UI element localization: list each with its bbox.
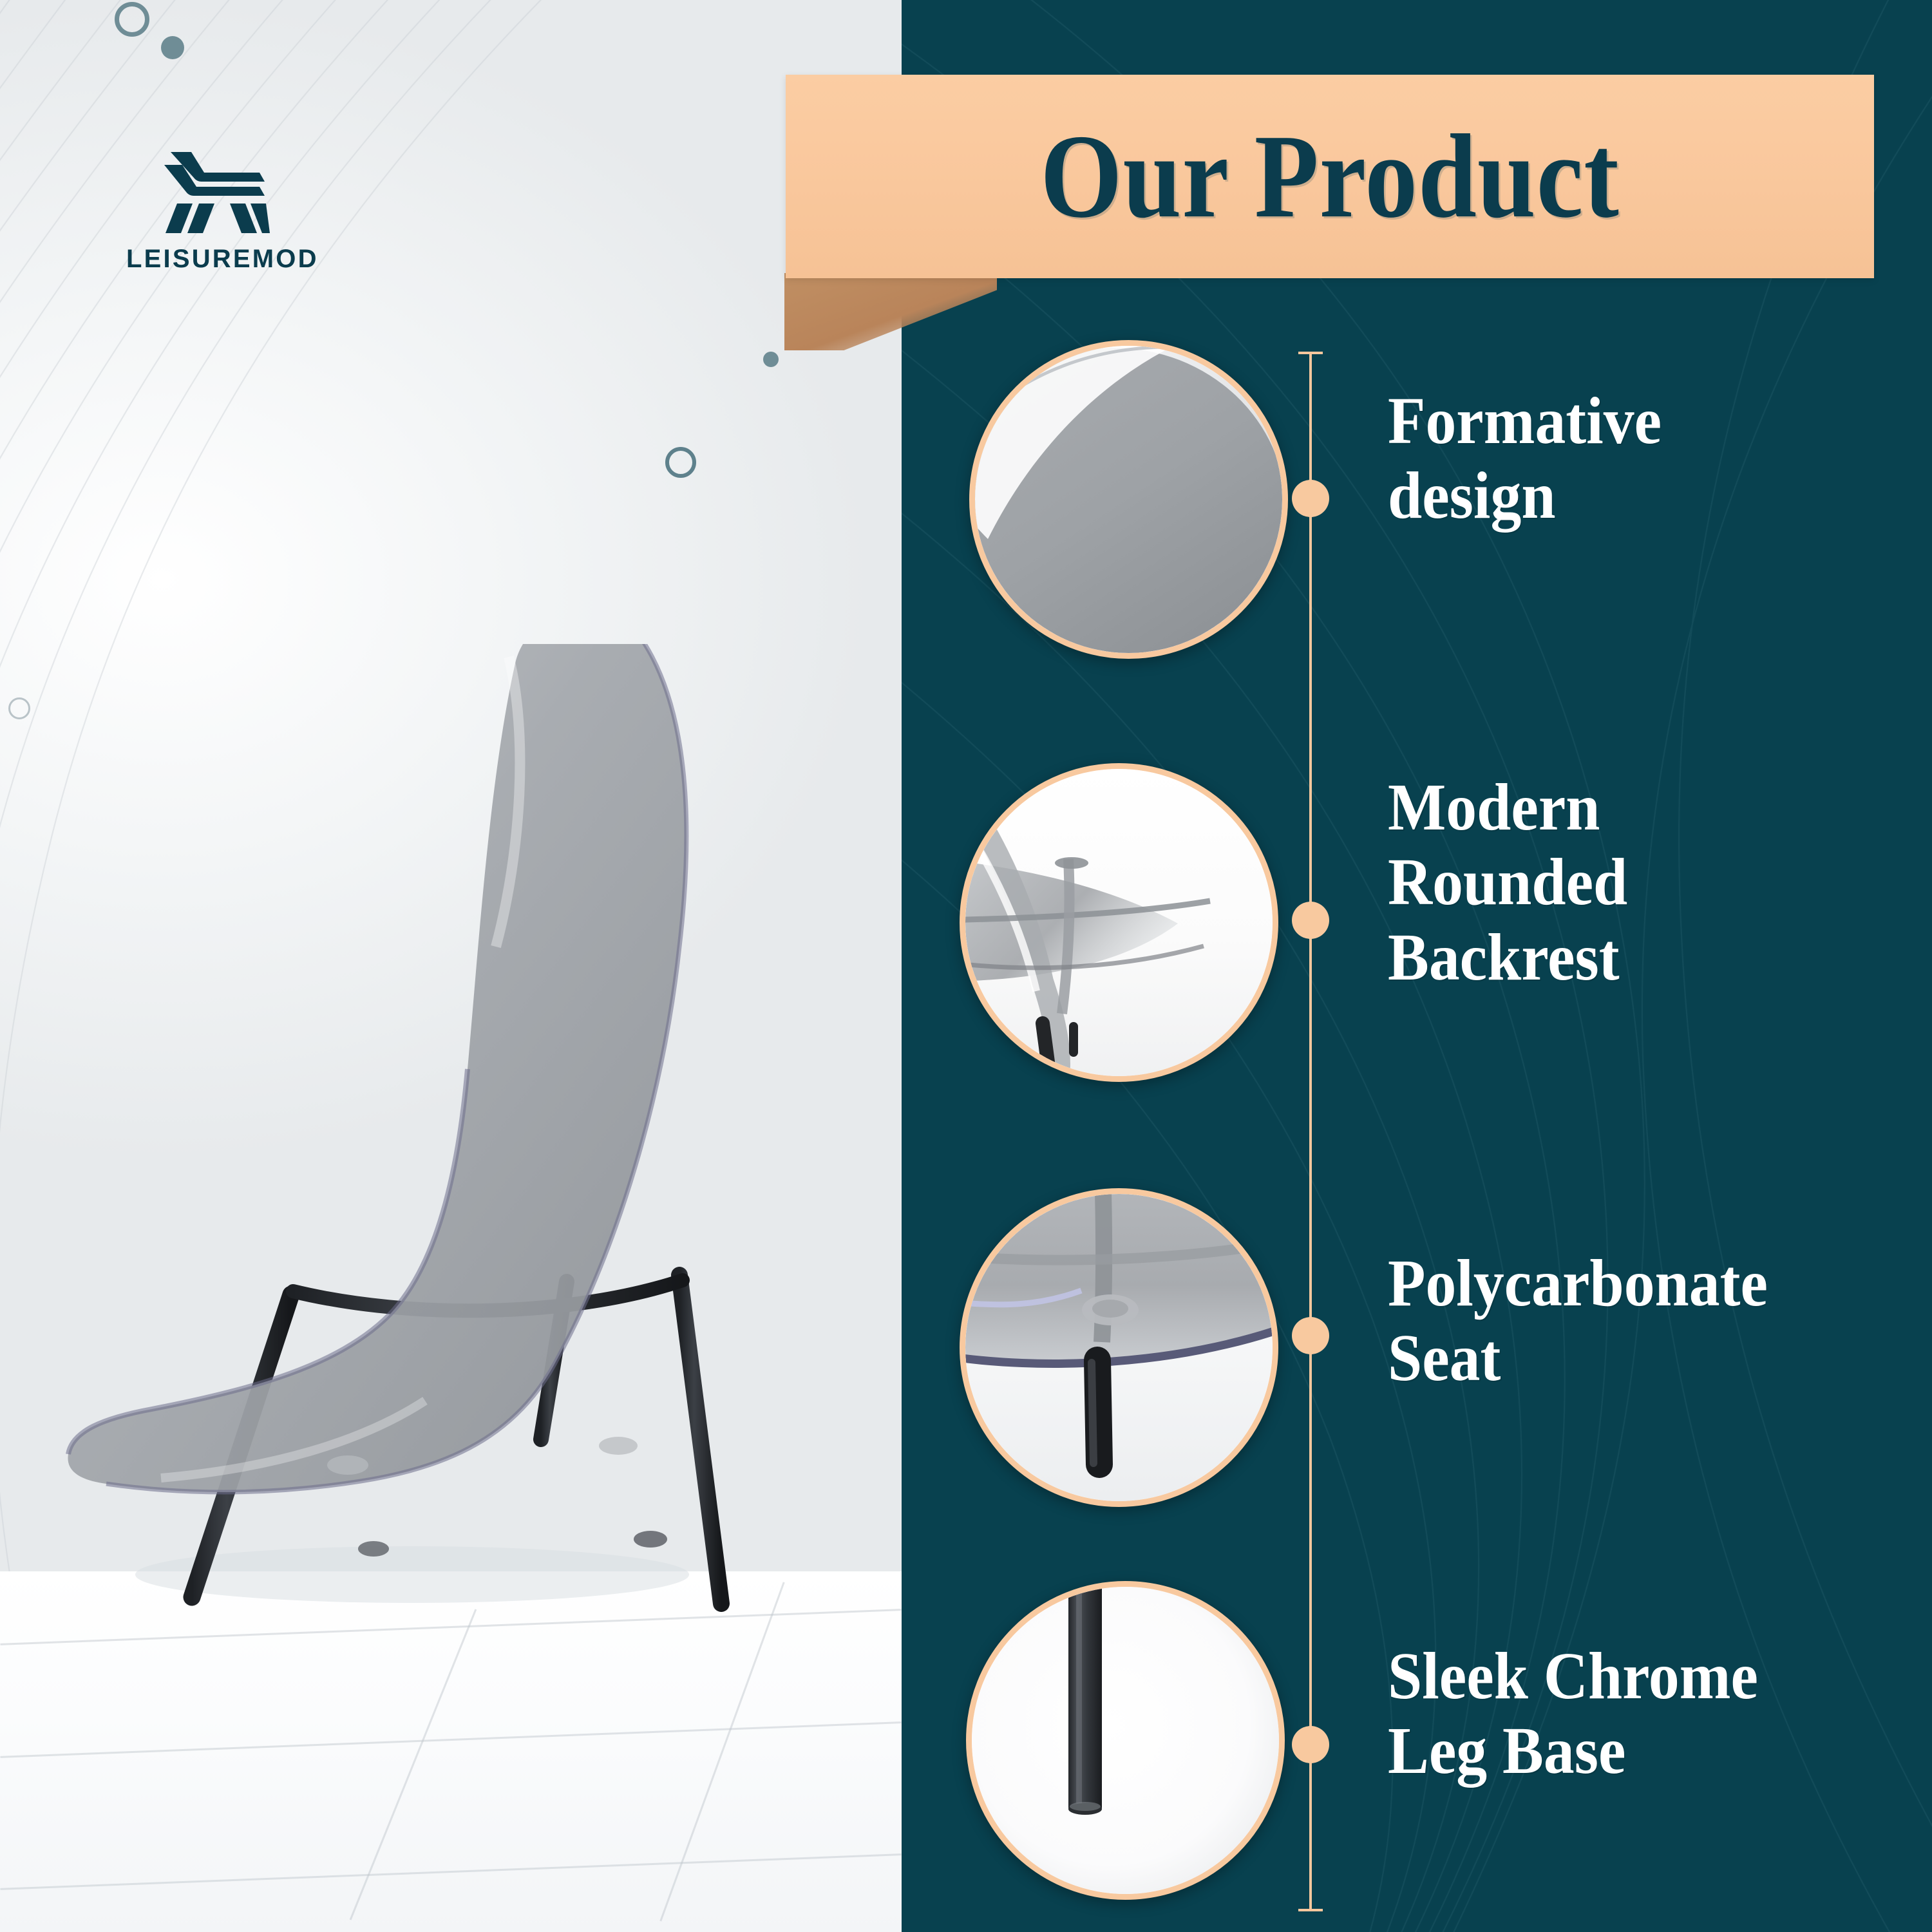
feature-label-formative-design: Formative design (1388, 384, 1662, 534)
thumbnail-image-seat-disc (975, 346, 1282, 653)
page-title: Our Product (1040, 117, 1619, 236)
feature-thumbnail-polycarbonate-seat[interactable] (960, 1188, 1278, 1507)
poster-canvas: LEISUREMOD (0, 0, 1932, 1932)
decor-ring-top (115, 2, 149, 37)
product-image (0, 644, 902, 1932)
timeline-cap-top (1298, 352, 1323, 354)
thumbnail-image-backrest-underside (965, 769, 1273, 1076)
chair-illustration (0, 644, 902, 1932)
brand-logo[interactable]: LEISUREMOD (126, 151, 307, 274)
timeline-dot-4 (1292, 1726, 1329, 1763)
feature-timeline-line (1309, 353, 1312, 1911)
feature-thumbnail-modern-rounded-backrest[interactable] (960, 763, 1278, 1082)
feature-thumbnail-sleek-chrome-leg-base[interactable] (966, 1581, 1285, 1900)
feature-label-sleek-chrome-leg-base: Sleek Chrome Leg Base (1388, 1639, 1758, 1789)
feature-label-polycarbonate-seat: Polycarbonate Seat (1388, 1246, 1768, 1396)
thumbnail-image-seat-underside (965, 1194, 1273, 1501)
brand-name: LEISUREMOD (126, 245, 307, 274)
seat-disc-closeup-icon (975, 346, 1282, 653)
title-banner: Our Product (786, 75, 1874, 278)
feature-label-modern-rounded-backrest: Modern Rounded Backrest (1388, 770, 1627, 995)
feature-thumbnail-formative-design[interactable] (969, 340, 1288, 659)
seat-underside-closeup-icon (965, 1194, 1273, 1501)
thumbnail-image-chrome-leg (972, 1587, 1279, 1894)
timeline-dot-2 (1292, 902, 1329, 939)
product-photo-panel: LEISUREMOD (0, 0, 902, 1932)
chrome-leg-closeup-icon (972, 1587, 1279, 1894)
decor-dot-mid (763, 352, 779, 367)
lounge-chair-icon (163, 151, 270, 234)
decor-ring-mid (665, 447, 696, 478)
timeline-cap-bottom (1298, 1909, 1323, 1911)
backrest-underside-closeup-icon (965, 769, 1273, 1076)
timeline-dot-1 (1292, 480, 1329, 517)
timeline-dot-3 (1292, 1317, 1329, 1354)
decor-dot-top (161, 36, 184, 59)
